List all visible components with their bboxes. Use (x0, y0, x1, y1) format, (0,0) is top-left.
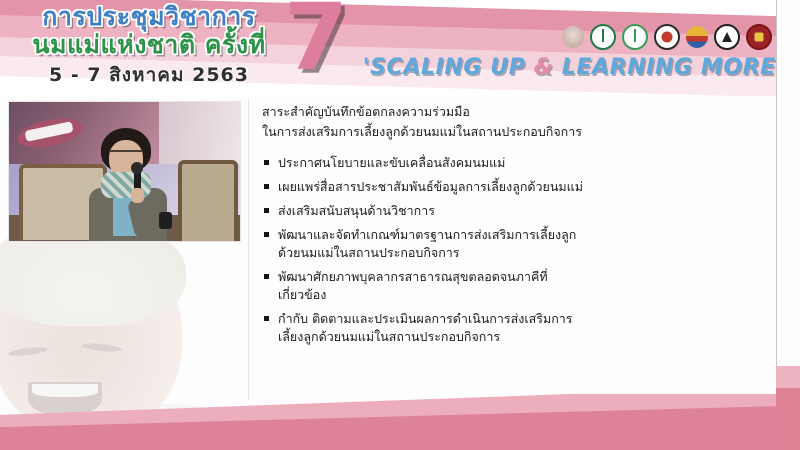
speaker-glasses-icon (109, 150, 143, 160)
logo-green-medical-2-icon (622, 24, 648, 50)
speaker-hand (131, 188, 144, 203)
edition-number: 7 (284, 0, 348, 84)
bullet-text-3: ส่งเสริมสนับสนุนด้านวิชาการ (278, 203, 435, 218)
lead-line-1: สาระสำคัญบันทึกข้อตกลงความร่วมมือ (262, 102, 762, 122)
tagline-part-2: LEARNING MORE' (554, 55, 784, 80)
logo-black-circle-seal-icon (714, 24, 740, 50)
bullet-text-1: ประกาศนโยบายและขับเคลื่อนสังคมนมแม่ (278, 155, 505, 170)
bullet-text-4: พัฒนาและจัดทำเกณฑ์มาตรฐานการส่งเสริมการเ… (278, 227, 576, 242)
bullet-text-6-cont: เลี้ยงลูกด้วยนมแม่ในสถานประกอบกิจการ (278, 328, 762, 346)
column-divider (248, 100, 249, 400)
list-item: เผยแพร่สื่อสารประชาสัมพันธ์ข้อมูลการเลี้… (262, 178, 762, 196)
list-item: พัฒนาและจัดทำเกณฑ์มาตรฐานการส่งเสริมการเ… (262, 226, 762, 262)
list-item: กำกับ ติดตามและประเมินผลการดำเนินการส่งเ… (262, 310, 762, 346)
presenter-remote-icon (159, 212, 172, 229)
tagline-part-1: 'SCALING UP (363, 55, 534, 80)
video-poster-right (159, 102, 241, 164)
speaker-video[interactable] (8, 101, 241, 242)
slide-body: สาระสำคัญบันทึกข้อตกลงความร่วมมือ ในการส… (0, 96, 776, 450)
conference-date: 5 - 7 สิงหาคม 2563 (14, 63, 284, 87)
list-item: ประกาศนโยบายและขับเคลื่อนสังคมนมแม่ (262, 154, 762, 172)
right-rail-pink-light (776, 366, 800, 388)
video-chair-right (178, 160, 238, 242)
video-speaker-person (87, 128, 171, 241)
content-lead: สาระสำคัญบันทึกข้อตกลงความร่วมมือ ในการส… (262, 102, 762, 142)
conference-tagline: 'SCALING UP & LEARNING MORE' (358, 55, 788, 80)
title-line-1: การประชุมวิชาการ (14, 2, 284, 32)
list-item: พัฒนาศักยภาพบุคลากรสาธารณสุขตลอดจนภาคีที… (262, 268, 762, 304)
slide-content: สาระสำคัญบันทึกข้อตกลงความร่วมมือ ในการส… (262, 102, 762, 352)
logo-red-circle-seal-icon (654, 24, 680, 50)
watermark-hat (0, 236, 186, 326)
lead-line-2: ในการส่งเสริมการเลี้ยงลูกด้วยนมแม่ในสถาน… (262, 122, 762, 142)
logo-thai-pagoda-crest-icon (686, 26, 708, 48)
microphone-head-icon (131, 162, 143, 174)
bullet-text-5-cont: เกี่ยวข้อง (278, 286, 762, 304)
title-line-2: นมแม่แห่งชาติ ครั้งที่ (14, 30, 284, 60)
sponsor-logos: สสส. (562, 24, 800, 50)
presentation-slide: การประชุมวิชาการ นมแม่แห่งชาติ ครั้งที่ … (0, 0, 800, 450)
bullet-text-5: พัฒนาศักยภาพบุคลากรสาธารณสุขตลอดจนภาคีที… (278, 269, 548, 284)
conference-title: การประชุมวิชาการ นมแม่แห่งชาติ ครั้งที่ … (14, 2, 284, 87)
logo-green-medical-1-icon (590, 24, 616, 50)
right-rail-pink-dark (776, 388, 800, 450)
slide-header: การประชุมวิชาการ นมแม่แห่งชาติ ครั้งที่ … (0, 0, 800, 96)
logo-red-royal-seal-icon (746, 24, 772, 50)
bullet-text-4-cont: ด้วยนมแม่ในสถานประกอบกิจการ (278, 244, 762, 262)
content-bullet-list: ประกาศนโยบายและขับเคลื่อนสังคมนมแม่ เผยแ… (262, 154, 762, 346)
logo-thai-royal-emblem-icon (562, 26, 584, 48)
bullet-text-2: เผยแพร่สื่อสารประชาสัมพันธ์ข้อมูลการเลี้… (278, 179, 583, 194)
bullet-text-6: กำกับ ติดตามและประเมินผลการดำเนินการส่งเ… (278, 311, 573, 326)
tagline-ampersand: & (534, 55, 554, 80)
list-item: ส่งเสริมสนับสนุนด้านวิชาการ (262, 202, 762, 220)
bottom-pink-band (0, 394, 776, 450)
